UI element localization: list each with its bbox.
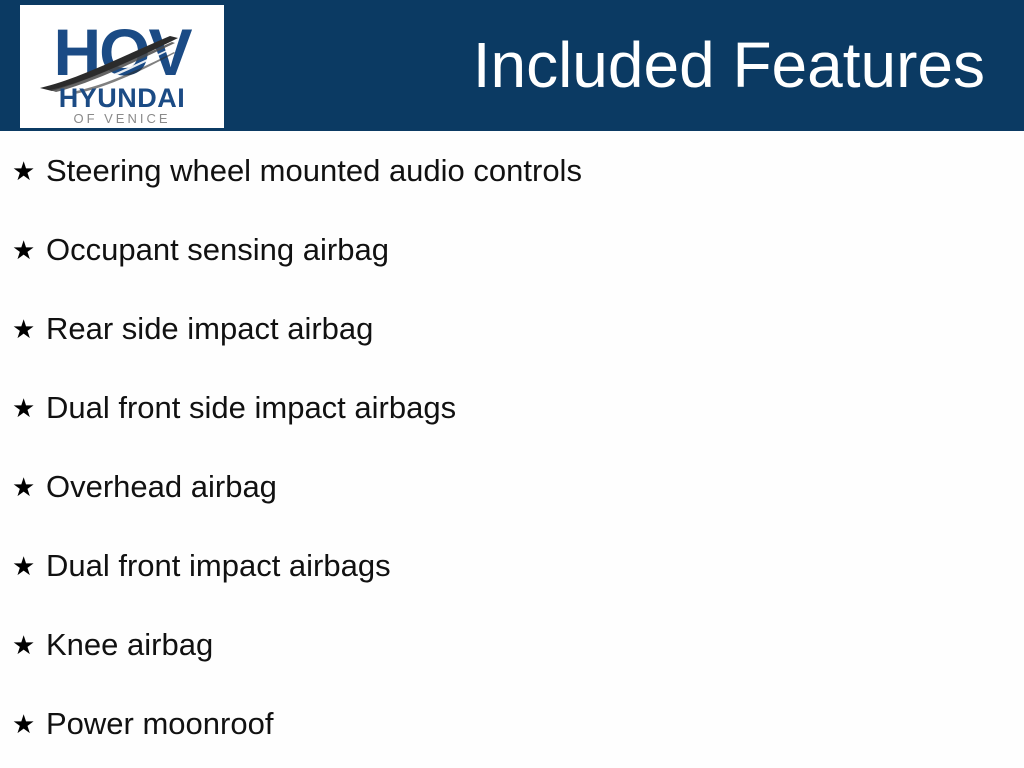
svg-text:OF VENICE: OF VENICE xyxy=(73,111,170,126)
hov-logo-icon: HOV HYUNDAI OF VENICE xyxy=(20,5,224,128)
star-bullet-icon: ★ xyxy=(12,158,46,184)
star-bullet-icon: ★ xyxy=(12,632,46,658)
star-bullet-icon: ★ xyxy=(12,474,46,500)
star-bullet-icon: ★ xyxy=(12,711,46,737)
list-item: ★ Steering wheel mounted audio controls xyxy=(0,131,1024,210)
svg-text:HYUNDAI: HYUNDAI xyxy=(59,83,186,113)
star-bullet-icon: ★ xyxy=(12,395,46,421)
presentation-slide: Included Features HOV HYUNDAI OF VENICE … xyxy=(0,0,1024,768)
feature-label: Power moonroof xyxy=(46,706,273,742)
page-title: Included Features xyxy=(473,26,985,104)
list-item: ★ Dual front impact airbags xyxy=(0,526,1024,605)
list-item: ★ Occupant sensing airbag xyxy=(0,210,1024,289)
feature-label: Steering wheel mounted audio controls xyxy=(46,153,582,189)
feature-label: Dual front side impact airbags xyxy=(46,390,456,426)
feature-label: Rear side impact airbag xyxy=(46,311,373,347)
list-item: ★ Dual front side impact airbags xyxy=(0,368,1024,447)
star-bullet-icon: ★ xyxy=(12,553,46,579)
dealer-logo: HOV HYUNDAI OF VENICE xyxy=(20,5,224,128)
feature-label: Overhead airbag xyxy=(46,469,277,505)
list-item: ★ Rear side impact airbag xyxy=(0,289,1024,368)
feature-label: Dual front impact airbags xyxy=(46,548,391,584)
list-item: ★ Knee airbag xyxy=(0,605,1024,684)
feature-label: Occupant sensing airbag xyxy=(46,232,389,268)
included-features-list: ★ Steering wheel mounted audio controls … xyxy=(0,131,1024,763)
list-item: ★ Power moonroof xyxy=(0,684,1024,763)
feature-label: Knee airbag xyxy=(46,627,213,663)
star-bullet-icon: ★ xyxy=(12,316,46,342)
star-bullet-icon: ★ xyxy=(12,237,46,263)
list-item: ★ Overhead airbag xyxy=(0,447,1024,526)
